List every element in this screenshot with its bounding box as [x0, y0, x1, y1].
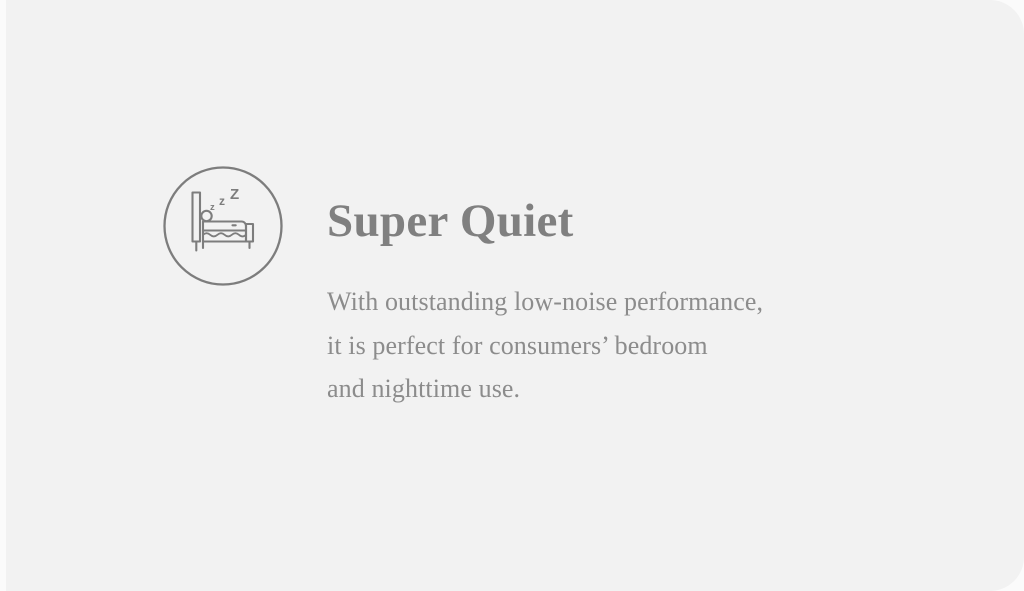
- feature-description-line: it is perfect for consumers’ bedroom: [327, 324, 967, 368]
- feature-description-line: and nighttime use.: [327, 367, 967, 411]
- feature-title: Super Quiet: [327, 192, 967, 250]
- feature-description-line: With outstanding low-noise performance,: [327, 280, 967, 324]
- bed-headboard: [193, 193, 201, 242]
- feature-description: With outstanding low-noise performance, …: [327, 250, 967, 411]
- zzz-letter-large: Z: [230, 186, 239, 203]
- bed-footboard: [246, 224, 253, 242]
- icon-circle-outline: [165, 168, 282, 285]
- blanket-wave-line: [203, 233, 246, 236]
- bed-mattress: [203, 222, 246, 231]
- sleeping-bed-zzz-icon: z z Z: [163, 166, 283, 286]
- feature-text-block: Super Quiet With outstanding low-noise p…: [327, 192, 967, 411]
- zzz-letter-small: z: [210, 202, 215, 213]
- feature-card-content: z z Z Super Quiet With outstanding low-n…: [6, 0, 1024, 591]
- zzz-letter-medium: z: [219, 194, 225, 208]
- feature-card: z z Z Super Quiet With outstanding low-n…: [6, 0, 1024, 591]
